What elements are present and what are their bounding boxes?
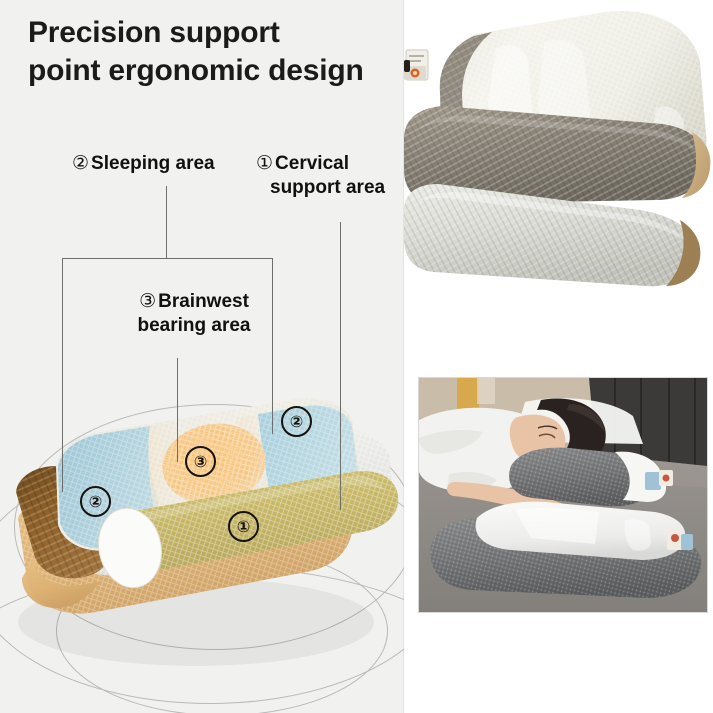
callout-label-sleeping: Sleeping area	[91, 153, 215, 174]
leader-line-sleeping-left	[62, 258, 63, 492]
callout-brainwest-bearing-area: ③Brainwest bearing area	[104, 290, 284, 339]
callout-number-2: ②	[72, 153, 89, 174]
zone-marker-1: ①	[228, 511, 259, 542]
callout-cervical-support-area: ①Cervical support area	[256, 152, 404, 201]
infographic-root: ① ② ② ③ ②Sleeping area ①Cervical support…	[0, 0, 713, 713]
callout-sleeping-area: ②Sleeping area	[72, 152, 215, 176]
brand-tag	[404, 50, 428, 80]
diagram-panel: ① ② ② ③ ②Sleeping area ①Cervical support…	[0, 0, 404, 713]
leader-line-brainwest	[177, 358, 178, 462]
product-photo-pillow-detail	[404, 4, 713, 360]
callout-number-1: ①	[256, 153, 273, 174]
pillow-illustration	[0, 372, 404, 672]
callout-label-cervical-2: support area	[270, 177, 385, 198]
zone-marker-2-right: ②	[281, 406, 312, 437]
page-title: Precision support point ergonomic design	[28, 14, 404, 91]
leader-line-bracket	[62, 258, 273, 259]
callout-label-cervical-1: Cervical	[275, 153, 349, 174]
lifestyle-photo-woman-sleeping	[418, 377, 708, 613]
leader-line-sleeping-right	[272, 258, 273, 434]
photo-column	[404, 0, 713, 713]
leader-line-sleeping-stem	[166, 186, 167, 258]
callout-number-3: ③	[139, 291, 156, 312]
zone-marker-2-left: ②	[80, 486, 111, 517]
callout-label-brain-1: Brainwest	[158, 291, 249, 312]
zone-marker-3: ③	[185, 446, 216, 477]
callout-label-brain-2: bearing area	[138, 315, 251, 336]
leader-line-cervical	[340, 222, 341, 510]
